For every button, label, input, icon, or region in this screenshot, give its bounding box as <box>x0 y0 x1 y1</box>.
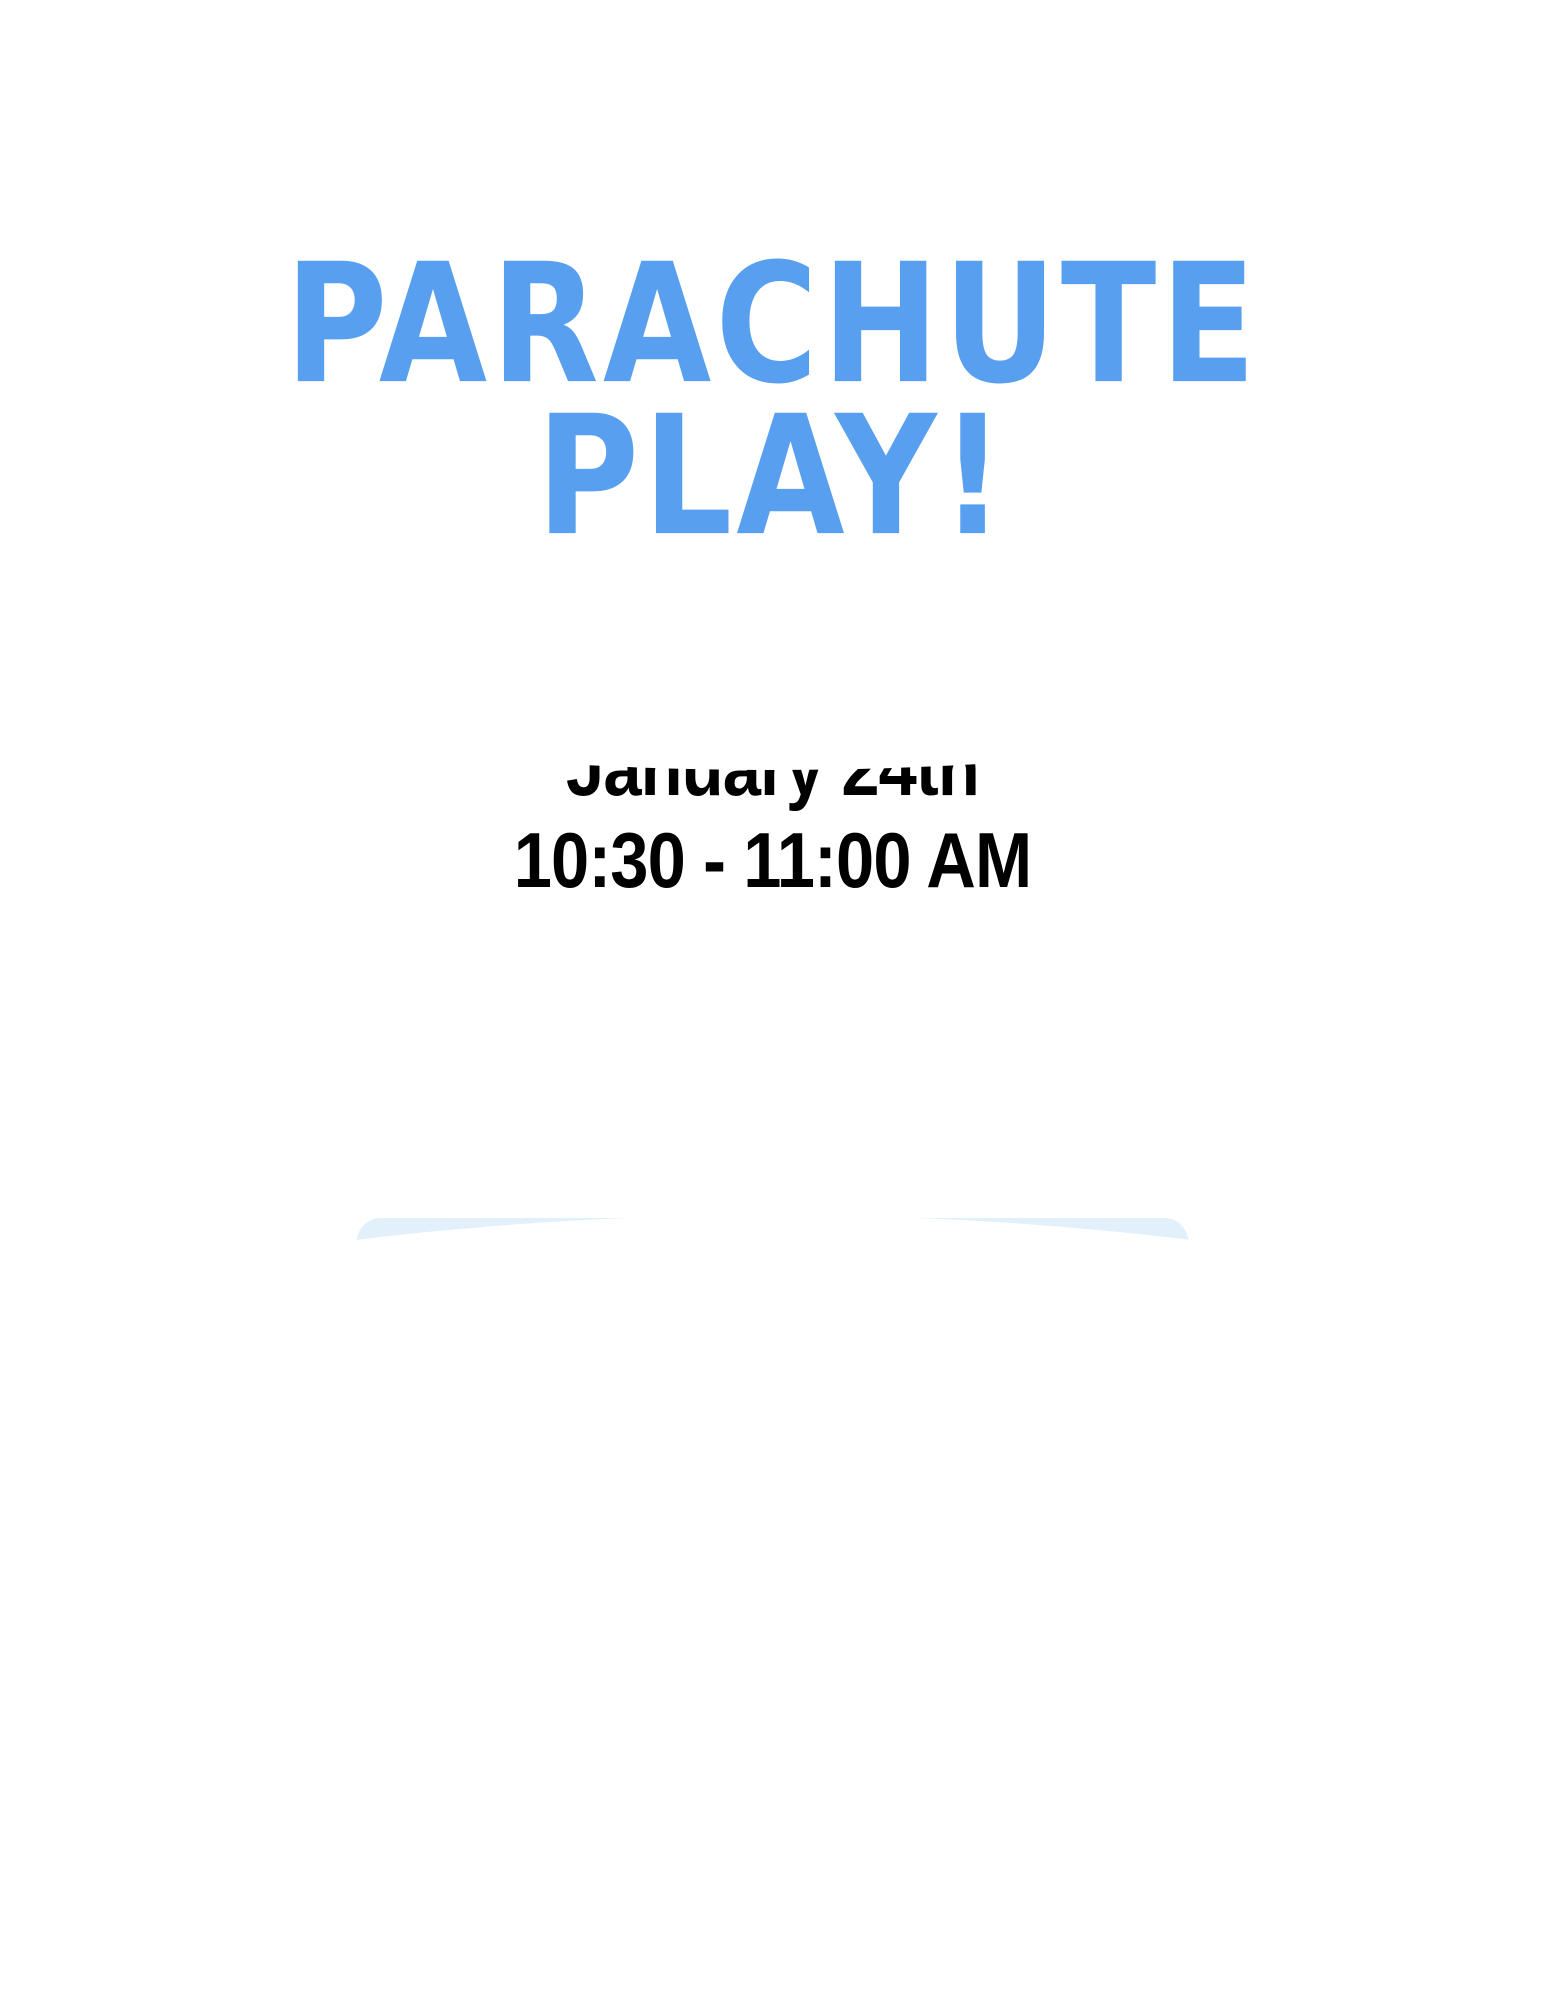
event-time: 10:30 - 11:00 AM <box>93 814 1453 906</box>
page-title: PARACHUTE PLAY! <box>0 236 1545 540</box>
rainbow-band <box>0 1215 1545 2000</box>
title-line-2: PLAY! <box>0 388 1545 567</box>
event-flyer: Penn Hills Library Children’s Department… <box>0 0 1545 2000</box>
